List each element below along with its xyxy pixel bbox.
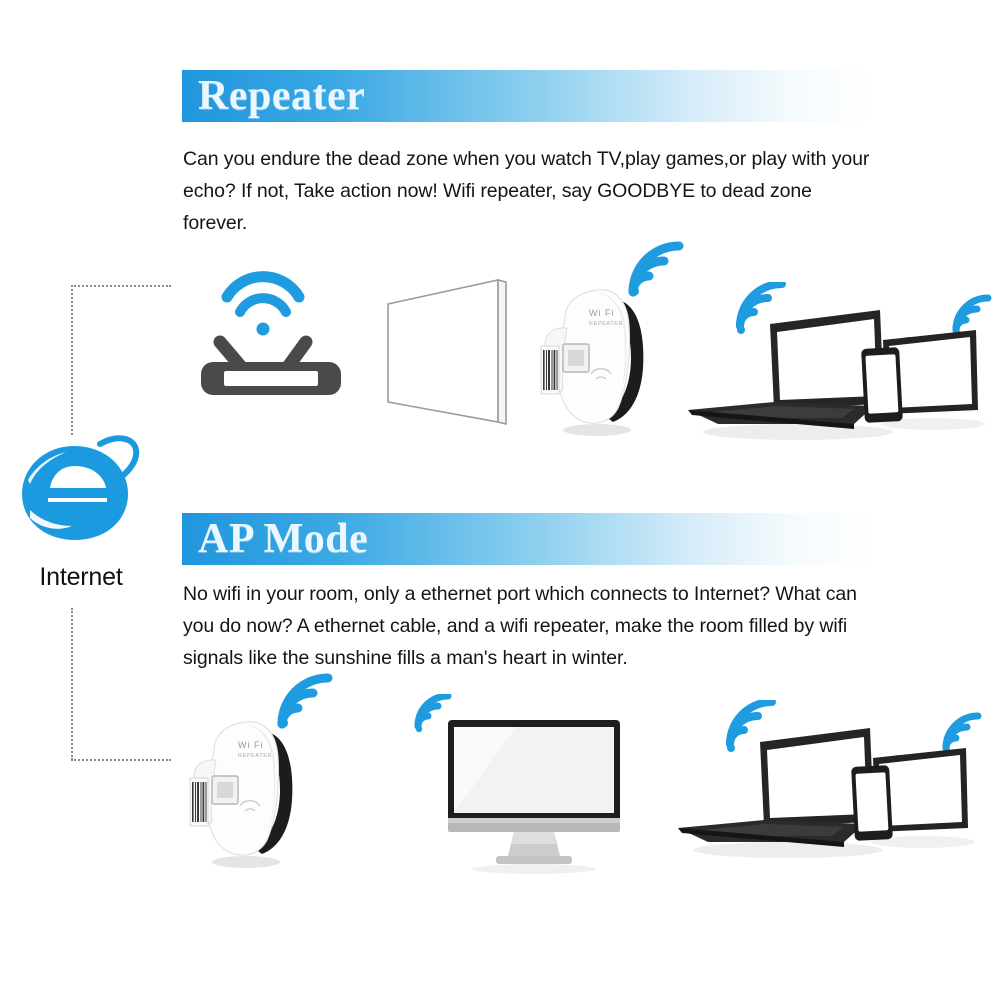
wifi-repeater-device-illustration-bottom: Wi Fi REPEATER bbox=[176, 672, 346, 872]
ap-mode-heading-bar: AP Mode bbox=[182, 513, 872, 565]
client-devices-illustration-top bbox=[678, 282, 1000, 442]
wifi-router-illustration bbox=[186, 250, 356, 395]
product-infographic: Repeater Can you endure the dead zone wh… bbox=[0, 0, 1000, 1000]
connector-line-upper-vertical bbox=[71, 285, 73, 435]
svg-text:REPEATER: REPEATER bbox=[589, 321, 623, 327]
wall-barrier-illustration bbox=[378, 272, 523, 442]
internet-label: Internet bbox=[16, 563, 146, 592]
svg-text:Wi Fi: Wi Fi bbox=[589, 308, 615, 318]
client-devices-illustration-bottom bbox=[668, 700, 990, 860]
internet-explorer-logo bbox=[14, 428, 144, 550]
svg-text:REPEATER: REPEATER bbox=[238, 753, 272, 759]
wifi-repeater-device-illustration-top: Wi Fi REPEATER bbox=[527, 240, 697, 440]
connector-line-upper-horizontal bbox=[71, 285, 171, 287]
ap-mode-body-text: No wifi in your room, only a ethernet po… bbox=[183, 578, 873, 674]
desktop-monitor-illustration bbox=[404, 694, 634, 874]
repeater-body-text: Can you endure the dead zone when you wa… bbox=[183, 143, 871, 239]
svg-text:Wi Fi: Wi Fi bbox=[238, 740, 264, 750]
repeater-heading-bar: Repeater bbox=[182, 70, 872, 122]
repeater-heading-text: Repeater bbox=[182, 75, 365, 117]
connector-line-lower-horizontal bbox=[71, 759, 171, 761]
ap-mode-heading-text: AP Mode bbox=[182, 518, 368, 560]
connector-line-lower-vertical bbox=[71, 608, 73, 760]
